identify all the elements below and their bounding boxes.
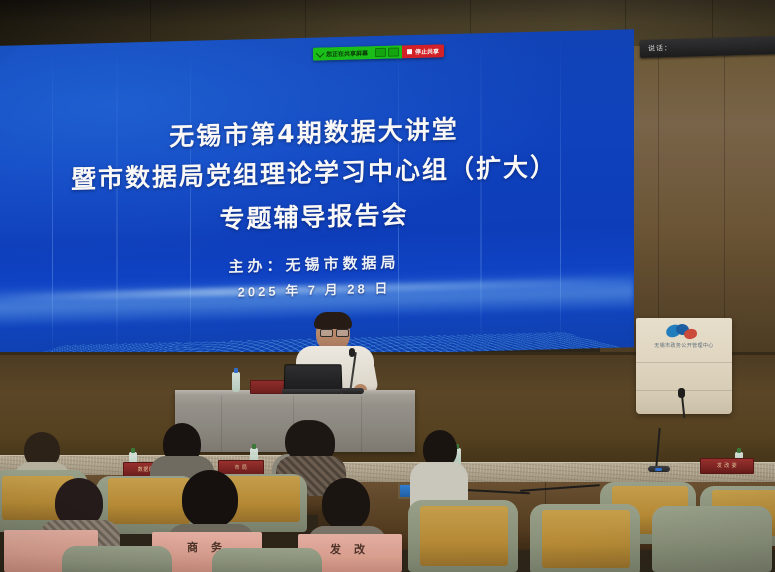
podium-microphone-head-icon [678, 388, 685, 398]
stop-square-icon [407, 49, 412, 54]
water-bottle [232, 372, 240, 392]
sharing-status-label: 您正在共享屏幕 [326, 48, 368, 58]
annotate-icon[interactable] [388, 47, 399, 56]
wall-seam [658, 46, 659, 356]
table-nameplate [250, 380, 286, 394]
audience-head [322, 478, 370, 530]
desk-nameplate-text: 发 改 委 [701, 462, 753, 469]
audience-chair [652, 506, 772, 572]
desk-nameplate: 发 改 委 [700, 458, 754, 474]
stop-share-button[interactable]: 停止共享 [402, 44, 444, 58]
chair-backrest [62, 546, 172, 572]
stop-share-label: 停止共享 [415, 46, 439, 56]
slide-title-line-3: 专题辅导报告会 [0, 189, 634, 242]
presenter-hair [314, 312, 352, 329]
podium-logo-text: 无锡市政务公开管理中心 [636, 342, 732, 349]
podium-panel-seam [636, 362, 732, 363]
speaker-podium: 无锡市政务公开管理中心 [636, 318, 732, 414]
tablecloth-fold [221, 396, 222, 452]
desk-nameplate-text: 市 局 [219, 464, 263, 471]
presenter-microphone-base [340, 388, 364, 394]
share-toolbar-controls[interactable] [372, 45, 402, 59]
chair-wood-panel [108, 478, 190, 524]
presenter-microphone-head-icon [349, 348, 355, 357]
speaker-status-label: 说话： [648, 43, 672, 54]
chair-backrest [212, 548, 322, 572]
laptop-screen [284, 364, 343, 392]
logo-shape-red [683, 328, 697, 340]
organization-logo-icon [662, 324, 704, 340]
chair-wood-panel [542, 510, 630, 568]
pause-share-icon[interactable] [375, 48, 386, 57]
audience-chair [62, 546, 172, 572]
desk-microphone-indicator [655, 468, 662, 471]
presenter-laptop [282, 364, 342, 394]
conference-room-photo: 无锡市第4期数据大讲堂 暨市数据局党组理论学习中心组（扩大） 专题辅导报告会 主… [0, 0, 775, 572]
presenter-glasses-left [320, 329, 333, 337]
sharing-status-chip: 您正在共享屏幕 [313, 46, 372, 61]
laptop-keyboard [282, 389, 342, 394]
presenter-glasses-right [336, 329, 349, 337]
check-icon [316, 49, 324, 57]
tablecloth-fold [361, 396, 362, 452]
audience-head [182, 470, 238, 528]
chair-wood-panel [420, 506, 508, 566]
speaker-status-bar[interactable]: 说话： [640, 36, 775, 58]
wall-seam [724, 46, 725, 356]
chair-backrest [652, 506, 772, 572]
audience-chair [212, 548, 322, 572]
